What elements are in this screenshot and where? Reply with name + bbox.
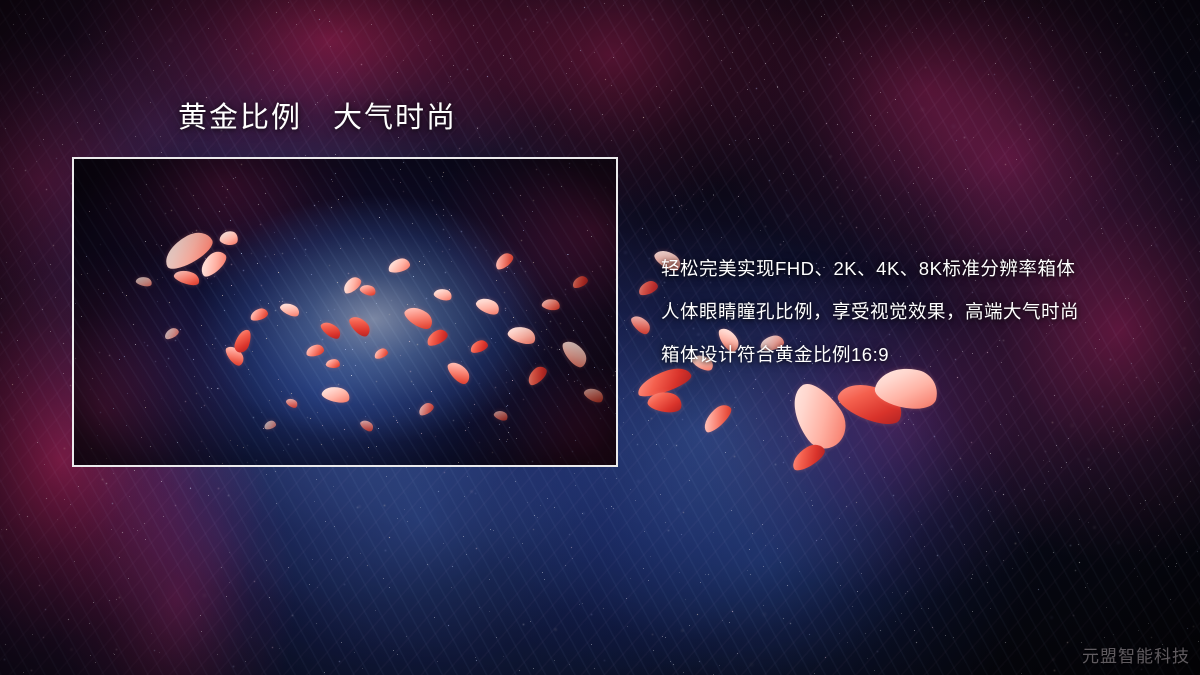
rose-petal <box>699 401 735 436</box>
presentation-slide: 黄金比例 大气时尚 轻松完美实现FHD、2K、4K、8K标准分辨率箱体 人体眼睛… <box>0 0 1200 675</box>
starfield-bright <box>0 0 1 1</box>
rose-petal <box>788 440 828 474</box>
rose-petal <box>646 389 683 416</box>
body-line-3: 箱体设计符合黄金比例16:9 <box>661 342 1079 385</box>
body-line-1: 轻松完美实现FHD、2K、4K、8K标准分辨率箱体 <box>661 256 1079 299</box>
rose-petal <box>637 279 660 297</box>
rose-petal <box>629 312 653 337</box>
company-watermark: 元盟智能科技 <box>1082 642 1190 667</box>
slide-title: 黄金比例 大气时尚 <box>178 101 457 136</box>
framed-image-vignette <box>74 159 616 465</box>
framed-image-panel <box>72 157 618 467</box>
body-line-2: 人体眼睛瞳孔比例，享受视觉效果，高端大气时尚 <box>661 299 1079 342</box>
slide-body-text: 轻松完美实现FHD、2K、4K、8K标准分辨率箱体 人体眼睛瞳孔比例，享受视觉效… <box>661 256 1079 385</box>
rose-petal <box>780 376 856 457</box>
